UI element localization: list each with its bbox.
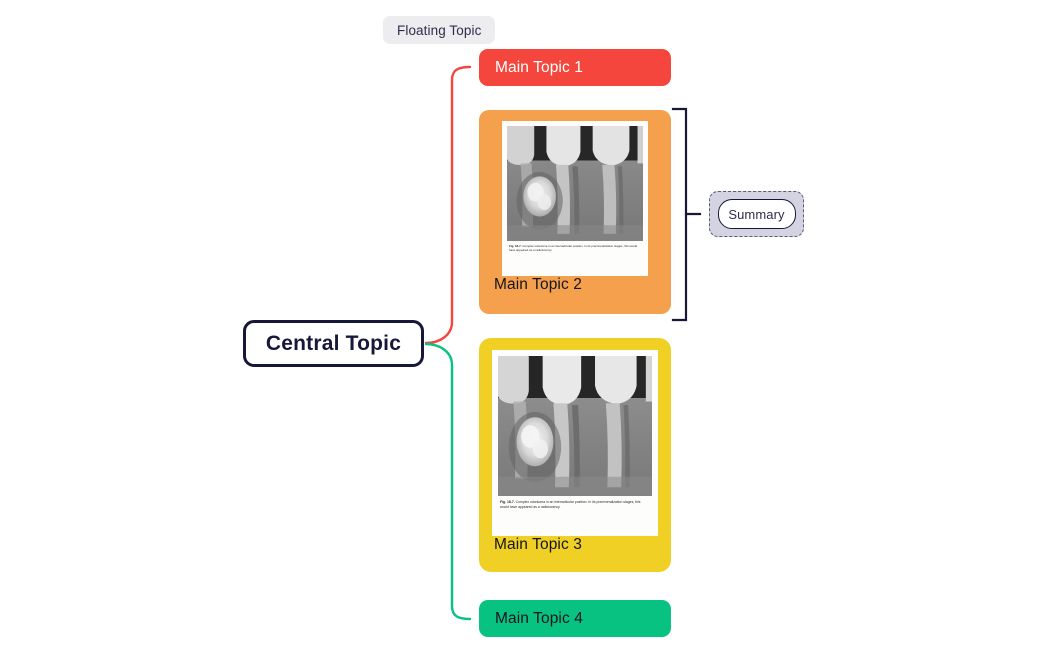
xray-caption-text-2: Complex odontoma in an interradicular po… [509, 244, 637, 252]
main-topic-3-node[interactable]: Fig. 18-7. Complex odontoma in an interr… [479, 338, 671, 572]
main-topic-2-node[interactable]: Fig. 18-7. Complex odontoma in an interr… [479, 110, 671, 314]
central-topic-node[interactable]: Central Topic [243, 320, 424, 367]
main-topic-3-label: Main Topic 3 [479, 536, 582, 554]
branch-upper-connector [426, 67, 470, 343]
xray-caption-3: Fig. 18-7. Complex odontoma in an interr… [498, 496, 652, 510]
summary-node[interactable]: Summary [718, 199, 796, 229]
xray-caption-2: Fig. 18-7. Complex odontoma in an interr… [507, 241, 643, 252]
xray-figure-label-3: Fig. 18-7. [500, 500, 515, 504]
main-topic-1-label: Main Topic 1 [479, 59, 583, 77]
dental-radiograph-image-3 [498, 356, 652, 496]
branch-lower-connector [426, 344, 470, 619]
main-topic-4-label: Main Topic 4 [479, 610, 583, 628]
xray-figure-2: Fig. 18-7. Complex odontoma in an interr… [502, 121, 648, 276]
xray-caption-text-3: Complex odontoma in an interradicular po… [500, 500, 640, 509]
main-topic-4-node[interactable]: Main Topic 4 [479, 600, 671, 637]
main-topic-2-label: Main Topic 2 [479, 276, 582, 294]
floating-topic-label: Floating Topic [397, 23, 481, 38]
summary-label: Summary [728, 207, 784, 222]
dental-radiograph-image-2 [507, 126, 643, 241]
floating-topic-node[interactable]: Floating Topic [383, 16, 495, 44]
xray-figure-3: Fig. 18-7. Complex odontoma in an interr… [492, 350, 658, 536]
central-topic-label: Central Topic [266, 332, 401, 356]
mindmap-canvas[interactable]: Floating Topic Central Topic Main Topic … [0, 0, 1048, 650]
summary-bracket [673, 109, 686, 320]
summary-selection-box[interactable]: Summary [709, 191, 804, 237]
main-topic-1-node[interactable]: Main Topic 1 [479, 49, 671, 86]
